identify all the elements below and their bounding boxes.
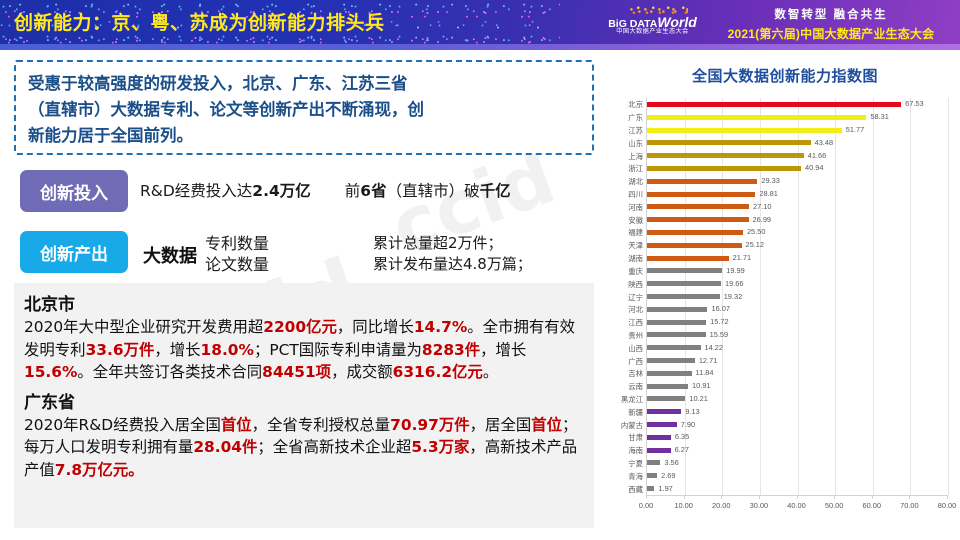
chart-bar-value: 7.90	[681, 420, 695, 429]
bj-p2d: 18.0%	[201, 341, 254, 359]
output-bigdata-label: 大数据	[143, 242, 197, 268]
invest-value-c: 千亿	[480, 182, 511, 200]
chart-category-label: 江苏	[628, 125, 643, 136]
chart-bar	[647, 448, 671, 453]
chart-bar	[647, 256, 729, 261]
chart-bar	[647, 230, 743, 235]
output-metric-values: 累计总量超2万件； 累计发布量达4.8万篇；	[373, 233, 532, 275]
chart-bar	[647, 166, 801, 171]
gd-p1c: ，全省专利授权总量	[252, 416, 391, 434]
chart-category-label: 四川	[628, 189, 643, 200]
chart-category-label: 江西	[628, 317, 643, 328]
chart-bar-value: 2.69	[661, 471, 675, 480]
bj-p3b: 8283件	[422, 341, 480, 359]
chart-gridline	[948, 98, 949, 495]
chart-bar-value: 29.33	[761, 176, 780, 185]
beijing-heading: 北京市	[24, 290, 594, 315]
gd-p2e: ；全省高新技术	[257, 438, 365, 456]
chart-bar-value: 16.07	[711, 304, 730, 313]
chart-panel: 全国大数据创新能力指数图 67.5358.3151.7743.4841.6640…	[610, 50, 960, 540]
chart-bar-value: 14.22	[705, 343, 724, 352]
badge-innovation-output: 创新产出	[20, 231, 128, 273]
gd-p3d: 7.8万亿元	[55, 461, 128, 479]
chart-category-label: 宁夏	[628, 458, 643, 469]
chart-tick-label: 30.00	[750, 501, 769, 510]
bj-p2e: ；PCT国际专利申	[254, 341, 376, 359]
chart-category-label: 新疆	[628, 407, 643, 418]
chart-bar	[647, 281, 721, 286]
invest-value-a: 2.4万亿	[252, 182, 310, 200]
chart-category-label: 广西	[628, 356, 643, 367]
bj-p3a: 请量为	[376, 341, 422, 359]
chart-tick-label: 80.00	[938, 501, 957, 510]
chart-bar	[647, 486, 654, 491]
bj-p1e: 。	[467, 318, 482, 336]
chart-category-label: 云南	[628, 381, 643, 392]
chart-bar	[647, 243, 742, 248]
chart-plot: 67.5358.3151.7743.4841.6640.9429.3328.81…	[618, 98, 952, 518]
conference-banner: 数智转型 融合共生 2021(第六届)中国大数据产业生态大会	[716, 6, 946, 42]
chart-bar-value: 27.10	[753, 202, 772, 211]
bj-p4c: 6316.2亿元	[393, 363, 483, 381]
chart-category-label: 安徽	[628, 215, 643, 226]
chart-gridline	[873, 98, 874, 495]
chart-bar	[647, 409, 681, 414]
chart-tick-label: 10.00	[674, 501, 693, 510]
chart-category-label: 天津	[628, 240, 643, 251]
chart-tick-mark	[947, 496, 948, 499]
summary-callout-box: 受惠于较高强度的研发投入，北京、广东、江苏三省 （直辖市）大数据专利、论文等创新…	[14, 60, 594, 155]
chart-bar	[647, 268, 722, 273]
gd-p1d: 70.97万件	[390, 416, 469, 434]
chart-tick-label: 60.00	[863, 501, 882, 510]
gd-p3e: 。	[128, 461, 143, 479]
chart-tick-label: 40.00	[787, 501, 806, 510]
bj-p1c: ，同比增长	[337, 318, 414, 336]
chart-tick-label: 0.00	[639, 501, 653, 510]
output-metric-2: 论文数量	[205, 254, 269, 275]
chart-category-label: 吉林	[628, 368, 643, 379]
bj-p2c: ，增长	[154, 341, 200, 359]
chart-category-label: 福建	[628, 227, 643, 238]
chart-bar-value: 21.71	[733, 253, 752, 262]
chart-bar	[647, 128, 842, 133]
chart-bar	[647, 358, 695, 363]
bj-p3e: 。全年共签订各类技术合同	[77, 363, 262, 381]
chart-bar	[647, 153, 804, 158]
bj-p1d: 14.7%	[414, 318, 467, 336]
chart-category-label: 西藏	[628, 484, 643, 495]
chart-bar	[647, 371, 692, 376]
chart-bar	[647, 460, 660, 465]
city-detail-box: 北京市 2020年大中型企业研究开发费用超2200亿元，同比增长14.7%。全市…	[14, 283, 594, 528]
invest-text-c: （直辖市）破	[387, 182, 480, 200]
chart-bar-value: 25.12	[746, 240, 765, 249]
chart-gridline	[835, 98, 836, 495]
chart-bar	[647, 192, 755, 197]
chart-category-label: 贵州	[628, 330, 643, 341]
gd-p2a: 居全国	[485, 416, 531, 434]
chart-tick-mark	[646, 496, 647, 499]
chart-category-label: 海南	[628, 445, 643, 456]
bj-p4b: ，成交额	[331, 363, 393, 381]
guangdong-heading: 广东省	[24, 388, 594, 413]
chart-bar-value: 6.35	[675, 432, 689, 441]
bj-p4a: 项	[316, 363, 331, 381]
chart-category-label: 陕西	[628, 279, 643, 290]
left-content-panel: 受惠于较高强度的研发投入，北京、广东、江苏三省 （直辖市）大数据专利、论文等创新…	[0, 50, 610, 540]
chart-bar	[647, 179, 757, 184]
output-metric-1: 专利数量	[205, 233, 269, 254]
chart-bar	[647, 332, 706, 337]
chart-bar-value: 9.13	[685, 407, 699, 416]
chart-category-label: 黑龙江	[621, 394, 643, 405]
chart-tick-label: 70.00	[900, 501, 919, 510]
bj-p1a: 2020年大中型企业研究开发费用超	[24, 318, 263, 336]
badge-innovation-investment: 创新投入	[20, 170, 128, 212]
chart-bar	[647, 396, 685, 401]
chart-category-label: 内蒙古	[621, 420, 643, 431]
gd-p1b: 首位	[221, 416, 252, 434]
chart-bar	[647, 422, 677, 427]
gd-p2b: 首位	[531, 416, 562, 434]
chart-tick-mark	[797, 496, 798, 499]
chart-bar-value: 15.72	[710, 317, 729, 326]
chart-bar	[647, 320, 706, 325]
gd-p1e: ，	[470, 416, 485, 434]
chart-bar	[647, 115, 866, 120]
chart-title: 全国大数据创新能力指数图	[610, 65, 960, 86]
gd-p1a: 2020年R&D经费投入居全国	[24, 416, 221, 434]
invest-text-a: R&D经费投入达	[140, 182, 252, 200]
invest-text-b: 前	[345, 182, 361, 200]
innovation-investment-row: R&D经费投入达2.4万亿前6省（直辖市）破千亿	[140, 179, 590, 201]
summary-callout-text: 受惠于较高强度的研发投入，北京、广东、江苏三省 （直辖市）大数据专利、论文等创新…	[28, 71, 580, 149]
page-title: 创新能力：京、粤、苏成为创新能力排头兵	[14, 8, 385, 35]
chart-bar-value: 67.53	[905, 99, 924, 108]
invest-value-b: 6省	[360, 182, 386, 200]
gd-p3b: 5.3万家	[411, 438, 469, 456]
chart-bar-value: 26.99	[753, 215, 772, 224]
conference-slogan: 数智转型 融合共生	[716, 6, 946, 22]
chart-category-label: 河北	[628, 304, 643, 315]
app-header: 创新能力：京、粤、苏成为创新能力排头兵 BiG DATAWorld 中国大数据产…	[0, 0, 960, 44]
chart-bar	[647, 435, 671, 440]
chart-bar	[647, 217, 749, 222]
chart-category-label: 重庆	[628, 266, 643, 277]
gd-p2d: 28.04件	[193, 438, 257, 456]
output-metric-names: 专利数量 论文数量	[205, 233, 269, 275]
chart-bar	[647, 345, 701, 350]
chart-bar-value: 43.48	[815, 138, 834, 147]
chart-bar-value: 19.32	[724, 292, 743, 301]
chart-bar	[647, 473, 657, 478]
chart-category-label: 湖北	[628, 176, 643, 187]
bigdata-world-logo: BiG DATAWorld 中国大数据产业生态大会	[600, 5, 705, 39]
chart-bar-value: 12.71	[699, 356, 718, 365]
chart-category-label: 山西	[628, 343, 643, 354]
chart-bar	[647, 140, 811, 145]
chart-bar-value: 1.97	[658, 484, 672, 493]
bj-p4d: 。	[483, 363, 498, 381]
chart-bar-value: 19.66	[725, 279, 744, 288]
chart-bar	[647, 294, 720, 299]
chart-tick-mark	[834, 496, 835, 499]
chart-bar-value: 11.84	[696, 368, 714, 377]
chart-category-label: 辽宁	[628, 292, 643, 303]
chart-bar-value: 15.59	[710, 330, 729, 339]
chart-plot-area: 67.5358.3151.7743.4841.6640.9429.3328.81…	[646, 98, 948, 496]
bj-p3f: 84451	[262, 363, 316, 381]
chart-category-label: 山东	[628, 138, 643, 149]
chart-category-label: 浙江	[628, 163, 643, 174]
chart-tick-mark	[759, 496, 760, 499]
chart-bar	[647, 204, 749, 209]
chart-tick-mark	[684, 496, 685, 499]
chart-tick-label: 20.00	[712, 501, 731, 510]
chart-category-label: 甘肃	[628, 432, 643, 443]
output-value-2: 累计发布量达4.8万篇；	[373, 254, 532, 275]
gd-p3a: 企业超	[365, 438, 411, 456]
bj-p1b: 2200亿元	[263, 318, 337, 336]
chart-bar-value: 10.21	[689, 394, 708, 403]
chart-bar-value: 41.66	[808, 151, 827, 160]
chart-bar-value: 3.56	[664, 458, 678, 467]
callout-line-1: 受惠于较高强度的研发投入，北京、广东、江苏三省	[28, 74, 408, 93]
chart-category-label: 青海	[628, 471, 643, 482]
chart-tick-mark	[872, 496, 873, 499]
chart-bar-value: 28.81	[759, 189, 778, 198]
chart-tick-label: 50.00	[825, 501, 844, 510]
chart-bar	[647, 307, 707, 312]
callout-line-2: （直辖市）大数据专利、论文等创新产出不断涌现，创	[28, 100, 424, 119]
chart-bar	[647, 102, 901, 107]
chart-bar-value: 58.31	[870, 112, 889, 121]
chart-bar-value: 6.27	[675, 445, 689, 454]
chart-tick-mark	[909, 496, 910, 499]
beijing-body: 2020年大中型企业研究开发费用超2200亿元，同比增长14.7%。全市拥有有效…	[24, 316, 584, 384]
chart-category-label: 北京	[628, 99, 643, 110]
chart-tick-mark	[721, 496, 722, 499]
chart-bar-value: 25.50	[747, 227, 766, 236]
chart-bar-value: 10.91	[692, 381, 711, 390]
chart-category-label: 广东	[628, 112, 643, 123]
chart-bar-value: 19.99	[726, 266, 745, 275]
bj-p2b: 33.6万件	[86, 341, 155, 359]
chart-bar	[647, 384, 688, 389]
chart-category-label: 湖南	[628, 253, 643, 264]
chart-bar-value: 51.77	[846, 125, 865, 134]
guangdong-body: 2020年R&D经费投入居全国首位，全省专利授权总量70.97万件，居全国首位；…	[24, 414, 584, 482]
logo-sub-text: 中国大数据产业生态大会	[600, 29, 705, 35]
conference-name: 2021(第六届)中国大数据产业生态大会	[716, 25, 946, 42]
bj-p3c: ，增长	[480, 341, 526, 359]
output-value-1: 累计总量超2万件；	[373, 233, 532, 254]
chart-gridline	[910, 98, 911, 495]
callout-line-3: 新能力居于全国前列。	[28, 126, 193, 145]
chart-category-label: 上海	[628, 151, 643, 162]
chart-bar-value: 40.94	[805, 163, 824, 172]
chart-category-label: 河南	[628, 202, 643, 213]
bj-p3d: 15.6%	[24, 363, 77, 381]
